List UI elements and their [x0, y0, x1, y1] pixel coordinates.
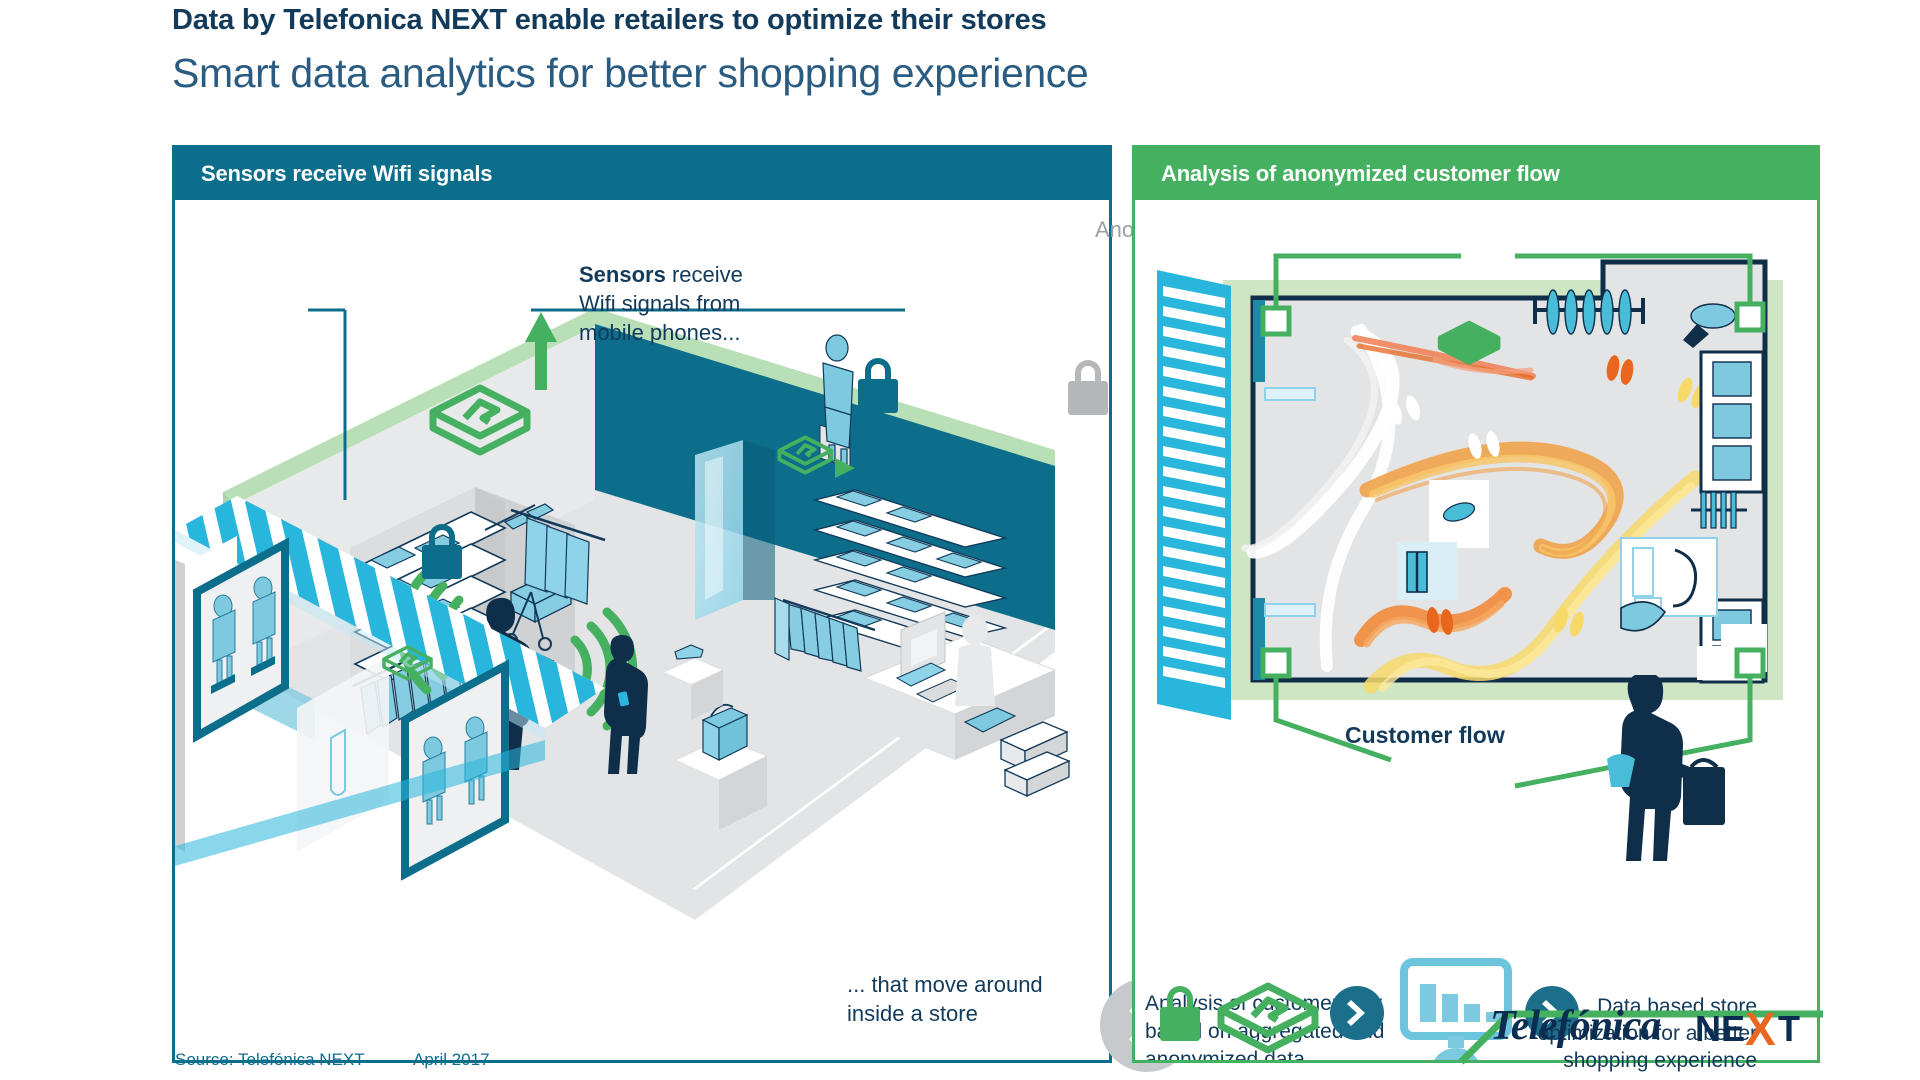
left-panel-heading: Sensors receive Wifi signals — [201, 161, 492, 187]
source-text: Source: Telefónica NEXT — [175, 1050, 365, 1069]
right-panel-header: Analysis of anonymized customer flow — [1135, 148, 1817, 200]
sensor-icon-left — [380, 643, 435, 687]
chevron-right-icon-1[interactable] — [1330, 986, 1384, 1040]
logo-next-left: NE — [1695, 1008, 1745, 1050]
sensor-icon-roof — [775, 433, 836, 481]
page-title: Smart data analytics for better shopping… — [172, 50, 1088, 97]
logo-brand: Telefónica — [1490, 1002, 1660, 1050]
shopper-silhouette — [1555, 675, 1755, 875]
right-panel: Analysis of anonymized customer flow — [1132, 145, 1820, 1063]
left-panel-body: Sensors receive Wifi signals from mobile… — [175, 200, 1109, 1060]
left-panel-header: Sensors receive Wifi signals — [175, 148, 1109, 200]
sensor-callout: Sensors receive Wifi signals from mobile… — [579, 260, 779, 347]
lock-icon-left — [415, 524, 469, 580]
sensor-icon-analysis — [1213, 978, 1323, 1065]
lock-icon-top — [851, 358, 905, 414]
sensor-icon-roof-right — [1435, 318, 1503, 372]
logo-next-x: X — [1745, 1002, 1776, 1056]
lock-icon-green — [1153, 986, 1207, 1044]
telefonica-next-logo: Telefónica NE X T — [1490, 1000, 1810, 1062]
customer-flow-label: Customer flow — [1345, 722, 1505, 749]
move-callout: ... that move around inside a store — [847, 970, 1047, 1028]
sensor-icon — [425, 380, 535, 467]
left-panel: Sensors receive Wifi signals — [172, 145, 1112, 1063]
sensor-callout-strong: Sensors — [579, 262, 666, 287]
logo-next-right: T — [1778, 1008, 1800, 1050]
source-line: Source: Telefónica NEXT April 2017 — [175, 1050, 365, 1070]
right-panel-heading: Analysis of anonymized customer flow — [1161, 161, 1560, 187]
infographic-root: Data by Telefonica NEXT enable retailers… — [0, 0, 1920, 1080]
lock-icon-anonymization — [1061, 360, 1115, 416]
page-eyebrow: Data by Telefonica NEXT enable retailers… — [172, 4, 1046, 37]
source-date: April 2017 — [413, 1050, 490, 1070]
